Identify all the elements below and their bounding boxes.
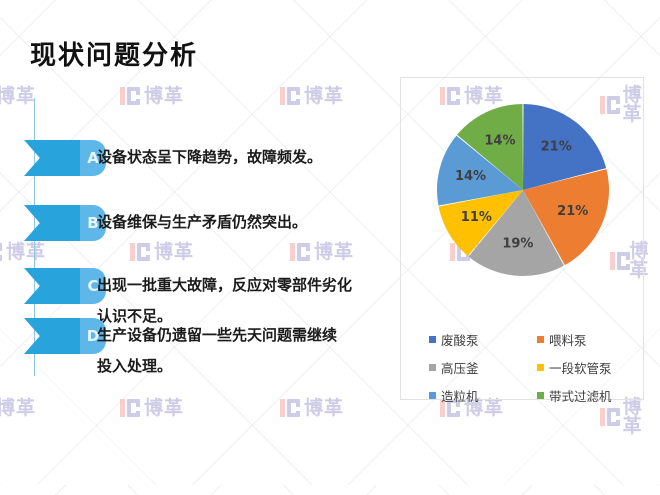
legend-label: 造粒机 xyxy=(441,386,479,405)
chart-legend: 废酸泵喂料泵高压釜一段软管泵造粒机带式过滤机 xyxy=(401,330,645,405)
pie-chart-svg: 21%21%19%11%14%14% xyxy=(401,96,645,286)
legend-item: 废酸泵 xyxy=(429,330,537,349)
chart-panel: 21%21%19%11%14%14% 废酸泵喂料泵高压釜一段软管泵造粒机带式过滤… xyxy=(400,77,644,400)
legend-swatch-icon xyxy=(537,392,544,399)
legend-item: 带式过滤机 xyxy=(537,386,645,405)
pie-slice-label: 19% xyxy=(502,236,533,251)
bullet-text-line: 设备状态呈下降趋势，故障频发。 xyxy=(97,142,322,173)
boge-logo-icon xyxy=(120,398,140,418)
bullet-item-b: B设备维保与生产矛盾仍然突出。 xyxy=(0,205,400,241)
watermark: 博革 xyxy=(0,398,36,418)
legend-item: 高压釜 xyxy=(429,358,537,377)
legend-item: 一段软管泵 xyxy=(537,358,645,377)
legend-swatch-icon xyxy=(537,364,544,371)
bullet-text-line: 出现一批重大故障，反应对零部件劣化 xyxy=(97,270,352,301)
legend-swatch-icon xyxy=(429,392,436,399)
pie-slice-label: 11% xyxy=(461,210,492,225)
bullet-text-line: 设备维保与生产矛盾仍然突出。 xyxy=(97,207,307,238)
pie-slice-label: 14% xyxy=(455,169,486,184)
bullet-item-a: A设备状态呈下降趋势，故障频发。 xyxy=(0,140,400,176)
bullet-text-line: 生产设备仍遗留一些先天问题需继续 xyxy=(97,320,337,351)
watermark-text: 博革 xyxy=(0,399,36,418)
pie-slice-label: 14% xyxy=(484,133,515,148)
legend-label: 废酸泵 xyxy=(441,330,479,349)
watermark: 博革 xyxy=(120,398,184,418)
watermark-text: 博革 xyxy=(144,399,184,418)
legend-label: 高压釜 xyxy=(441,358,479,377)
bullet-list: A设备状态呈下降趋势，故障频发。B设备维保与生产矛盾仍然突出。C出现一批重大故障… xyxy=(0,90,400,390)
legend-label: 带式过滤机 xyxy=(549,386,612,405)
bullet-item-d: D生产设备仍遗留一些先天问题需继续投入处理。 xyxy=(0,318,400,354)
watermark-text: 博革 xyxy=(304,399,344,418)
legend-label: 一段软管泵 xyxy=(549,358,612,377)
legend-swatch-icon xyxy=(537,336,544,343)
pie-chart: 21%21%19%11%14%14% xyxy=(401,96,645,286)
legend-label: 喂料泵 xyxy=(549,330,587,349)
legend-swatch-icon xyxy=(429,336,436,343)
legend-item: 喂料泵 xyxy=(537,330,645,349)
watermark: 博革 xyxy=(280,398,344,418)
boge-logo-icon xyxy=(600,407,619,427)
pie-slice-label: 21% xyxy=(541,140,572,155)
page-title: 现状问题分析 xyxy=(30,35,198,72)
legend-item: 造粒机 xyxy=(429,386,537,405)
boge-logo-icon xyxy=(280,398,300,418)
legend-swatch-icon xyxy=(429,364,436,371)
bullet-text-line: 投入处理。 xyxy=(97,351,172,382)
bullet-item-c: C出现一批重大故障，反应对零部件劣化认识不足。 xyxy=(0,268,400,304)
pie-slice-label: 21% xyxy=(557,204,588,219)
